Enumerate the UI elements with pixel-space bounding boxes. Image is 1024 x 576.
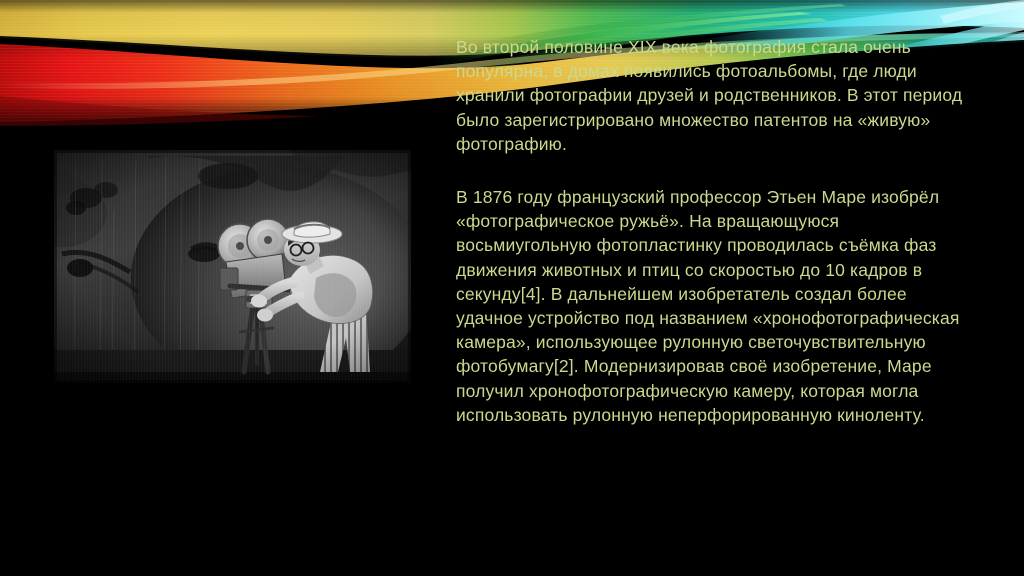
presentation-slide: Во второй половине XIX века фотография с… xyxy=(0,0,1024,576)
ribbon-left-glow xyxy=(0,96,470,135)
paragraph-1: Во второй половине XIX века фотография с… xyxy=(456,35,968,156)
slide-text-body: Во второй половине XIX века фотография с… xyxy=(456,35,968,427)
vintage-film-still-photo xyxy=(54,150,411,383)
paragraph-2: В 1876 году французский профессор Этьен … xyxy=(456,185,968,427)
